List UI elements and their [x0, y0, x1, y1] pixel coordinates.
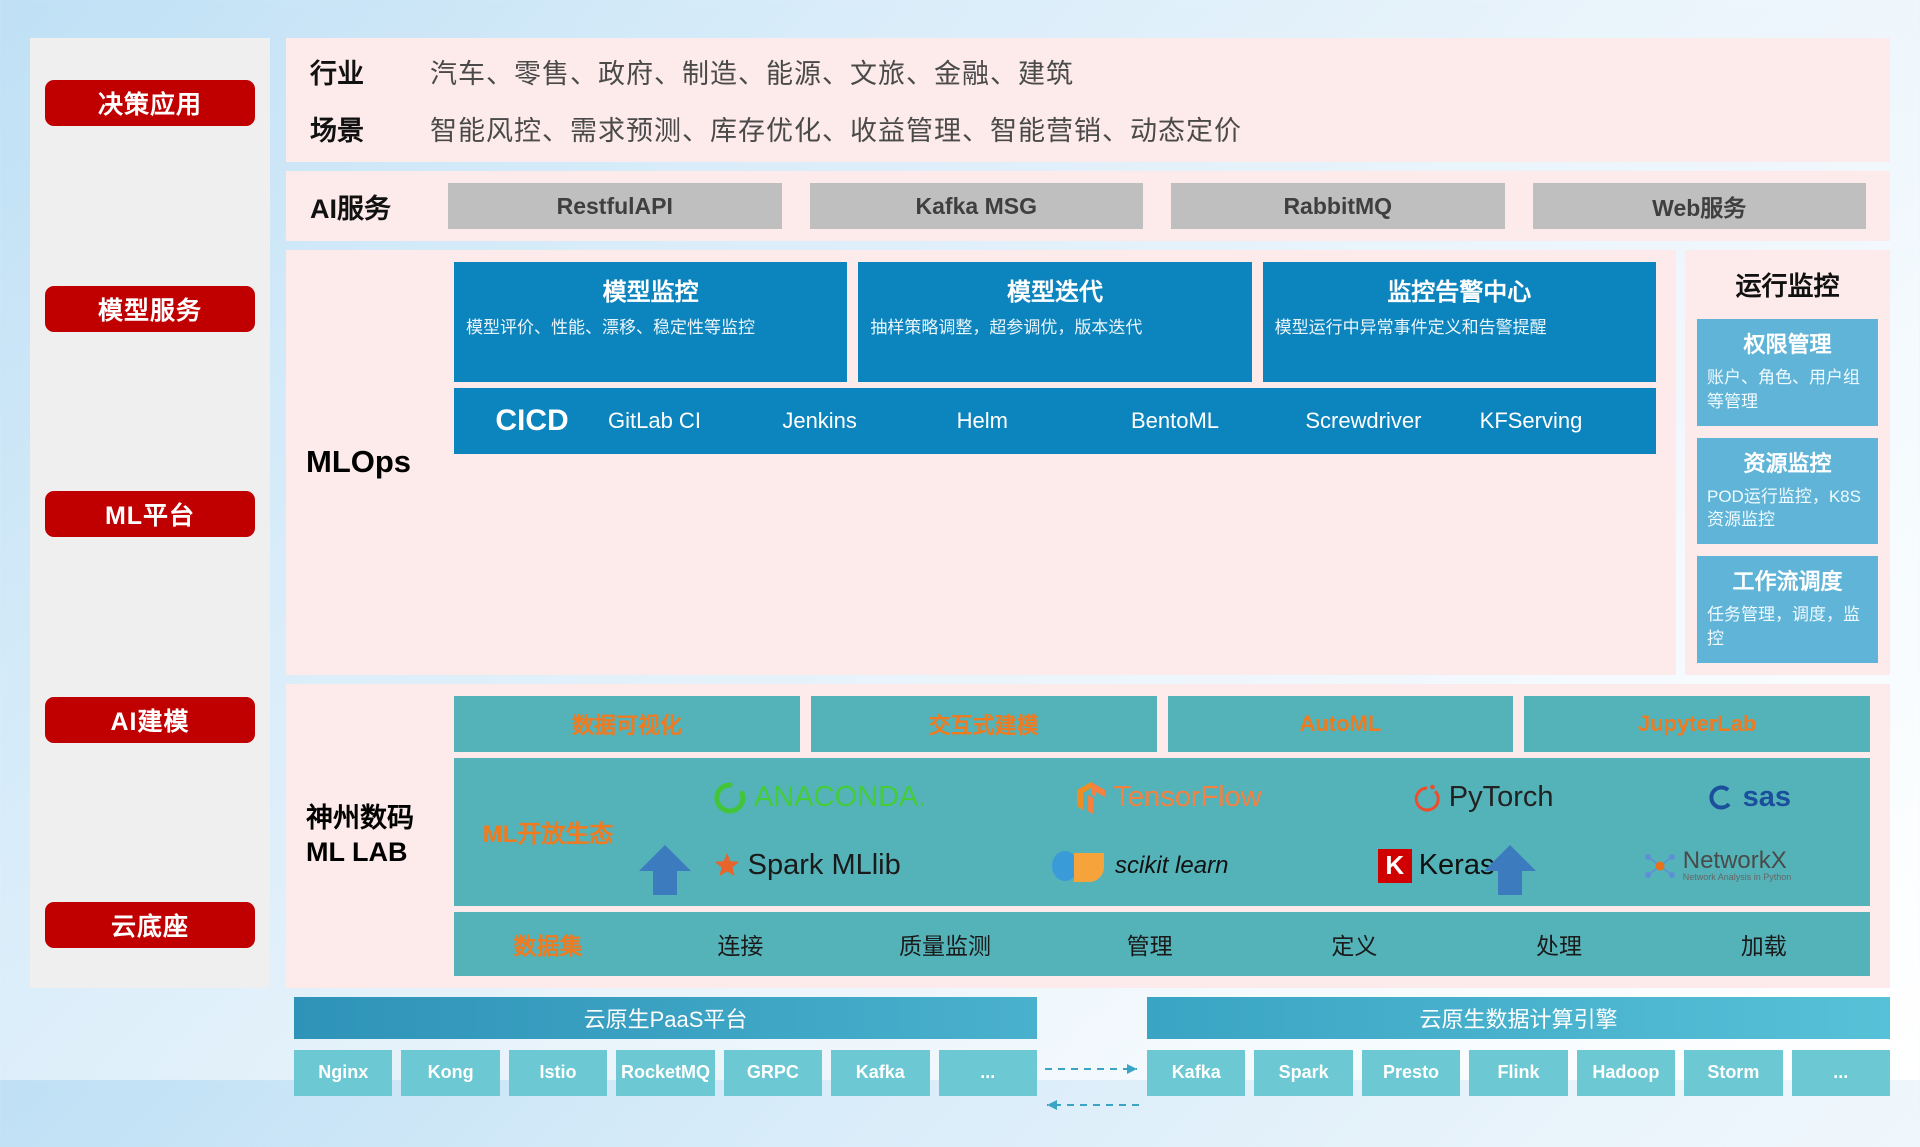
cloud-chip-kafka[interactable]: Kafka [831, 1050, 929, 1096]
card-desc: 账户、角色、用户组等管理 [1707, 366, 1868, 414]
chip-label: RestfulAPI [557, 193, 673, 220]
cloud-paas-bar[interactable]: 云原生PaaS平台 [294, 997, 1037, 1039]
cloud-chip-istio[interactable]: Istio [509, 1050, 607, 1096]
scikit-learn-icon [1050, 849, 1108, 883]
dataset-item-process[interactable]: 处理 [1457, 927, 1662, 961]
dataset-item-connect[interactable]: 连接 [638, 927, 843, 961]
cicd-item-gitlab-ci[interactable]: GitLab CI [602, 409, 776, 432]
bidirectional-dashed-connector [1037, 997, 1147, 1147]
ai-service-chips: RestfulAPI Kafka MSG RabbitMQ Web服务 [430, 183, 1866, 229]
cloud-chip-grpc[interactable]: GRPC [724, 1050, 822, 1096]
card-desc: 模型评价、性能、漂移、稳定性等监控 [466, 316, 835, 341]
spark-mllib-label: Spark MLlib [748, 849, 901, 882]
lab-tool-jupyterlab[interactable]: JupyterLab [1524, 696, 1870, 752]
rail-item-decision[interactable]: 决策应用 [45, 80, 255, 126]
card-title: 权限管理 [1707, 327, 1868, 359]
mlops-label: MLOps [306, 262, 454, 663]
eco-label: ML开放生态 [458, 764, 638, 900]
cicd-item-helm[interactable]: Helm [951, 409, 1125, 432]
monitor-card-permission[interactable]: 权限管理 账户、角色、用户组等管理 [1697, 319, 1878, 426]
mlops-band: MLOps 模型监控 模型评价、性能、漂移、稳定性等监控 模型迭代 抽样策略调整… [286, 250, 1676, 675]
ml-lab-label-line1: 神州数码 [306, 802, 414, 836]
rail-item-ai-modeling[interactable]: AI建模 [45, 697, 255, 743]
compute-chip-hadoop[interactable]: Hadoop [1577, 1050, 1675, 1096]
cloud-chip-nginx[interactable]: Nginx [294, 1050, 392, 1096]
chip-label: RabbitMQ [1283, 193, 1392, 220]
rail-item-cloud-base[interactable]: 云底座 [45, 902, 255, 948]
keras-logo: K Keras [1378, 849, 1495, 883]
compute-chip-flink[interactable]: Flink [1469, 1050, 1567, 1096]
cloud-compute-chips: Kafka Spark Presto Flink Hadoop Storm ..… [1147, 1050, 1890, 1096]
scene-row: 场景 智能风控、需求预测、库存优化、收益管理、智能营销、动态定价 [310, 109, 1242, 148]
cicd-item-jenkins[interactable]: Jenkins [776, 409, 950, 432]
ai-service-label: AI服务 [310, 187, 430, 226]
rail-label: ML平台 [105, 496, 195, 532]
cicd-item-screwdriver[interactable]: Screwdriver [1299, 409, 1473, 432]
arrow-up-paas [635, 845, 695, 895]
sas-label: sas [1743, 781, 1791, 814]
scene-label: 场景 [310, 109, 430, 148]
anaconda-logo: ANACONDA. [713, 781, 926, 815]
mlops-card-model-iteration[interactable]: 模型迭代 抽样策略调整，超参调优，版本迭代 [858, 262, 1251, 382]
pytorch-label: PyTorch [1449, 781, 1554, 814]
ml-lab-body: 数据可视化 交互式建模 AutoML JupyterLab ML开放生态 [454, 696, 1870, 976]
rail-item-ml-platform[interactable]: ML平台 [45, 491, 255, 537]
lab-tool-data-visualization[interactable]: 数据可视化 [454, 696, 800, 752]
runtime-monitor-panel: 运行监控 权限管理 账户、角色、用户组等管理 资源监控 POD运行监控，K8S资… [1685, 250, 1890, 675]
sas-logo: sas [1704, 781, 1791, 814]
cicd-items: GitLab CI Jenkins Helm BentoML Screwdriv… [602, 409, 1648, 432]
rail-label: 模型服务 [98, 291, 202, 327]
compute-chip-more[interactable]: ... [1792, 1050, 1890, 1096]
ai-service-band: AI服务 RestfulAPI Kafka MSG RabbitMQ Web服务 [286, 171, 1890, 241]
scikit-learn-logo: scikit learn [1050, 849, 1228, 883]
main-column: 行业 汽车、零售、政府、制造、能源、文旅、金融、建筑 场景 智能风控、需求预测、… [286, 38, 1890, 998]
mlops-card-model-monitoring[interactable]: 模型监控 模型评价、性能、漂移、稳定性等监控 [454, 262, 847, 382]
card-title: 模型监控 [466, 272, 835, 307]
rail-label: 云底座 [111, 907, 189, 943]
dataset-bar: 数据集 连接 质量监测 管理 定义 处理 加载 [454, 912, 1870, 976]
eco-logo-row-1: ANACONDA. TensorFlow [638, 764, 1866, 832]
networkx-icon [1644, 851, 1676, 881]
card-title: 资源监控 [1707, 446, 1868, 478]
industry-label: 行业 [310, 52, 430, 91]
industry-value: 汽车、零售、政府、制造、能源、文旅、金融、建筑 [430, 52, 1074, 91]
industry-row: 行业 汽车、零售、政府、制造、能源、文旅、金融、建筑 [310, 52, 1242, 91]
rail-label: 决策应用 [98, 85, 202, 121]
diagram-root: 决策应用 模型服务 ML平台 AI建模 云底座 行业 汽车、零售、政府、制造、能… [0, 0, 1920, 1080]
compute-chip-kafka[interactable]: Kafka [1147, 1050, 1245, 1096]
card-desc: POD运行监控，K8S资源监控 [1707, 485, 1868, 533]
cloud-connector-gap [1037, 997, 1147, 1096]
mlops-card-alert-center[interactable]: 监控告警中心 模型运行中异常事件定义和告警提醒 [1263, 262, 1656, 382]
cloud-chip-kong[interactable]: Kong [401, 1050, 499, 1096]
compute-chip-storm[interactable]: Storm [1684, 1050, 1782, 1096]
tensorflow-icon [1076, 781, 1106, 815]
cloud-base-row: 云原生PaaS平台 Nginx Kong Istio RocketMQ GRPC… [286, 997, 1890, 1096]
pytorch-icon [1412, 781, 1442, 815]
mlops-cards: 模型监控 模型评价、性能、漂移、稳定性等监控 模型迭代 抽样策略调整，超参调优，… [454, 262, 1656, 382]
dataset-item-quality[interactable]: 质量监测 [843, 927, 1048, 961]
anaconda-icon [713, 781, 747, 815]
scene-value: 智能风控、需求预测、库存优化、收益管理、智能营销、动态定价 [430, 109, 1242, 148]
spark-star-icon [713, 852, 741, 880]
compute-chip-presto[interactable]: Presto [1362, 1050, 1460, 1096]
networkx-logo: NetworkX Network Analysis in Python [1644, 849, 1792, 882]
service-chip-web[interactable]: Web服务 [1533, 183, 1867, 229]
dataset-item-load[interactable]: 加载 [1661, 927, 1866, 961]
tensorflow-label: TensorFlow [1113, 781, 1261, 814]
tensorflow-logo: TensorFlow [1076, 781, 1261, 815]
ml-platform-row: MLOps 模型监控 模型评价、性能、漂移、稳定性等监控 模型迭代 抽样策略调整… [286, 250, 1890, 675]
card-title: 模型迭代 [870, 272, 1239, 307]
sas-icon [1704, 782, 1736, 814]
eco-logos: ANACONDA. TensorFlow [638, 764, 1866, 900]
scikit-learn-label: scikit learn [1115, 852, 1228, 880]
card-title: 工作流调度 [1707, 564, 1868, 596]
spark-mllib-logo: Spark MLlib [713, 849, 901, 882]
card-title: 监控告警中心 [1275, 272, 1644, 307]
eco-logo-row-2: Spark MLlib scikit learn [638, 832, 1866, 900]
mlops-body: 模型监控 模型评价、性能、漂移、稳定性等监控 模型迭代 抽样策略调整，超参调优，… [454, 262, 1656, 663]
cloud-paas-chips: Nginx Kong Istio RocketMQ GRPC Kafka ... [294, 1050, 1037, 1096]
lab-tool-interactive-modeling[interactable]: 交互式建模 [811, 696, 1157, 752]
monitor-card-resource[interactable]: 资源监控 POD运行监控，K8S资源监控 [1697, 438, 1878, 545]
lab-tools: 数据可视化 交互式建模 AutoML JupyterLab [454, 696, 1870, 752]
service-chip-restfulapi[interactable]: RestfulAPI [448, 183, 782, 229]
layer-rail: 决策应用 模型服务 ML平台 AI建模 云底座 [30, 38, 270, 988]
card-desc: 抽样策略调整，超参调优，版本迭代 [870, 316, 1239, 341]
cloud-paas-column: 云原生PaaS平台 Nginx Kong Istio RocketMQ GRPC… [294, 997, 1037, 1096]
ai-modeling-row: 神州数码 ML LAB 数据可视化 交互式建模 AutoML JupyterLa… [286, 684, 1890, 988]
keras-icon: K [1378, 849, 1412, 883]
apps-lines: 行业 汽车、零售、政府、制造、能源、文旅、金融、建筑 场景 智能风控、需求预测、… [310, 52, 1242, 148]
cloud-compute-label: 云原生数据计算引擎 [1419, 1002, 1617, 1034]
rail-item-model-service[interactable]: 模型服务 [45, 286, 255, 332]
compute-chip-spark[interactable]: Spark [1254, 1050, 1352, 1096]
lab-tool-automl[interactable]: AutoML [1168, 696, 1514, 752]
chip-label: Web服务 [1652, 189, 1746, 223]
rail-label: AI建模 [110, 702, 189, 738]
arrow-up-compute [1480, 845, 1540, 895]
networkx-subtitle: Network Analysis in Python [1683, 873, 1792, 882]
card-desc: 任务管理，调度，监控 [1707, 603, 1868, 651]
dataset-title: 数据集 [458, 927, 638, 961]
ml-lab-label: 神州数码 ML LAB [306, 696, 454, 976]
cloud-compute-column: 云原生数据计算引擎 Kafka Spark Presto Flink Hadoo… [1147, 997, 1890, 1096]
pytorch-logo: PyTorch [1412, 781, 1554, 815]
cloud-paas-label: 云原生PaaS平台 [584, 1002, 748, 1034]
card-desc: 模型运行中异常事件定义和告警提醒 [1275, 316, 1644, 341]
cloud-compute-bar[interactable]: 云原生数据计算引擎 [1147, 997, 1890, 1039]
cicd-bar: CICD GitLab CI Jenkins Helm BentoML Scre… [454, 388, 1656, 454]
cloud-chip-more[interactable]: ... [939, 1050, 1037, 1096]
ml-lab-band: 神州数码 ML LAB 数据可视化 交互式建模 AutoML JupyterLa… [286, 684, 1890, 988]
dataset-items: 连接 质量监测 管理 定义 处理 加载 [638, 927, 1866, 961]
chip-label: Kafka MSG [916, 193, 1037, 220]
cicd-item-kfserving[interactable]: KFServing [1474, 409, 1648, 432]
monitor-title: 运行监控 [1697, 266, 1878, 303]
networkx-label: NetworkX [1683, 849, 1792, 873]
dataset-item-manage[interactable]: 管理 [1047, 927, 1252, 961]
cloud-chip-rocketmq[interactable]: RocketMQ [616, 1050, 714, 1096]
decision-apps-band: 行业 汽车、零售、政府、制造、能源、文旅、金融、建筑 场景 智能风控、需求预测、… [286, 38, 1890, 162]
cicd-item-bentoml[interactable]: BentoML [1125, 409, 1299, 432]
service-chip-kafka-msg[interactable]: Kafka MSG [810, 183, 1144, 229]
ml-lab-label-line2: ML LAB [306, 836, 414, 870]
dataset-item-define[interactable]: 定义 [1252, 927, 1457, 961]
monitor-card-workflow[interactable]: 工作流调度 任务管理，调度，监控 [1697, 556, 1878, 663]
service-chip-rabbitmq[interactable]: RabbitMQ [1171, 183, 1505, 229]
cicd-title: CICD [462, 404, 602, 438]
anaconda-label: ANACONDA. [754, 781, 926, 814]
